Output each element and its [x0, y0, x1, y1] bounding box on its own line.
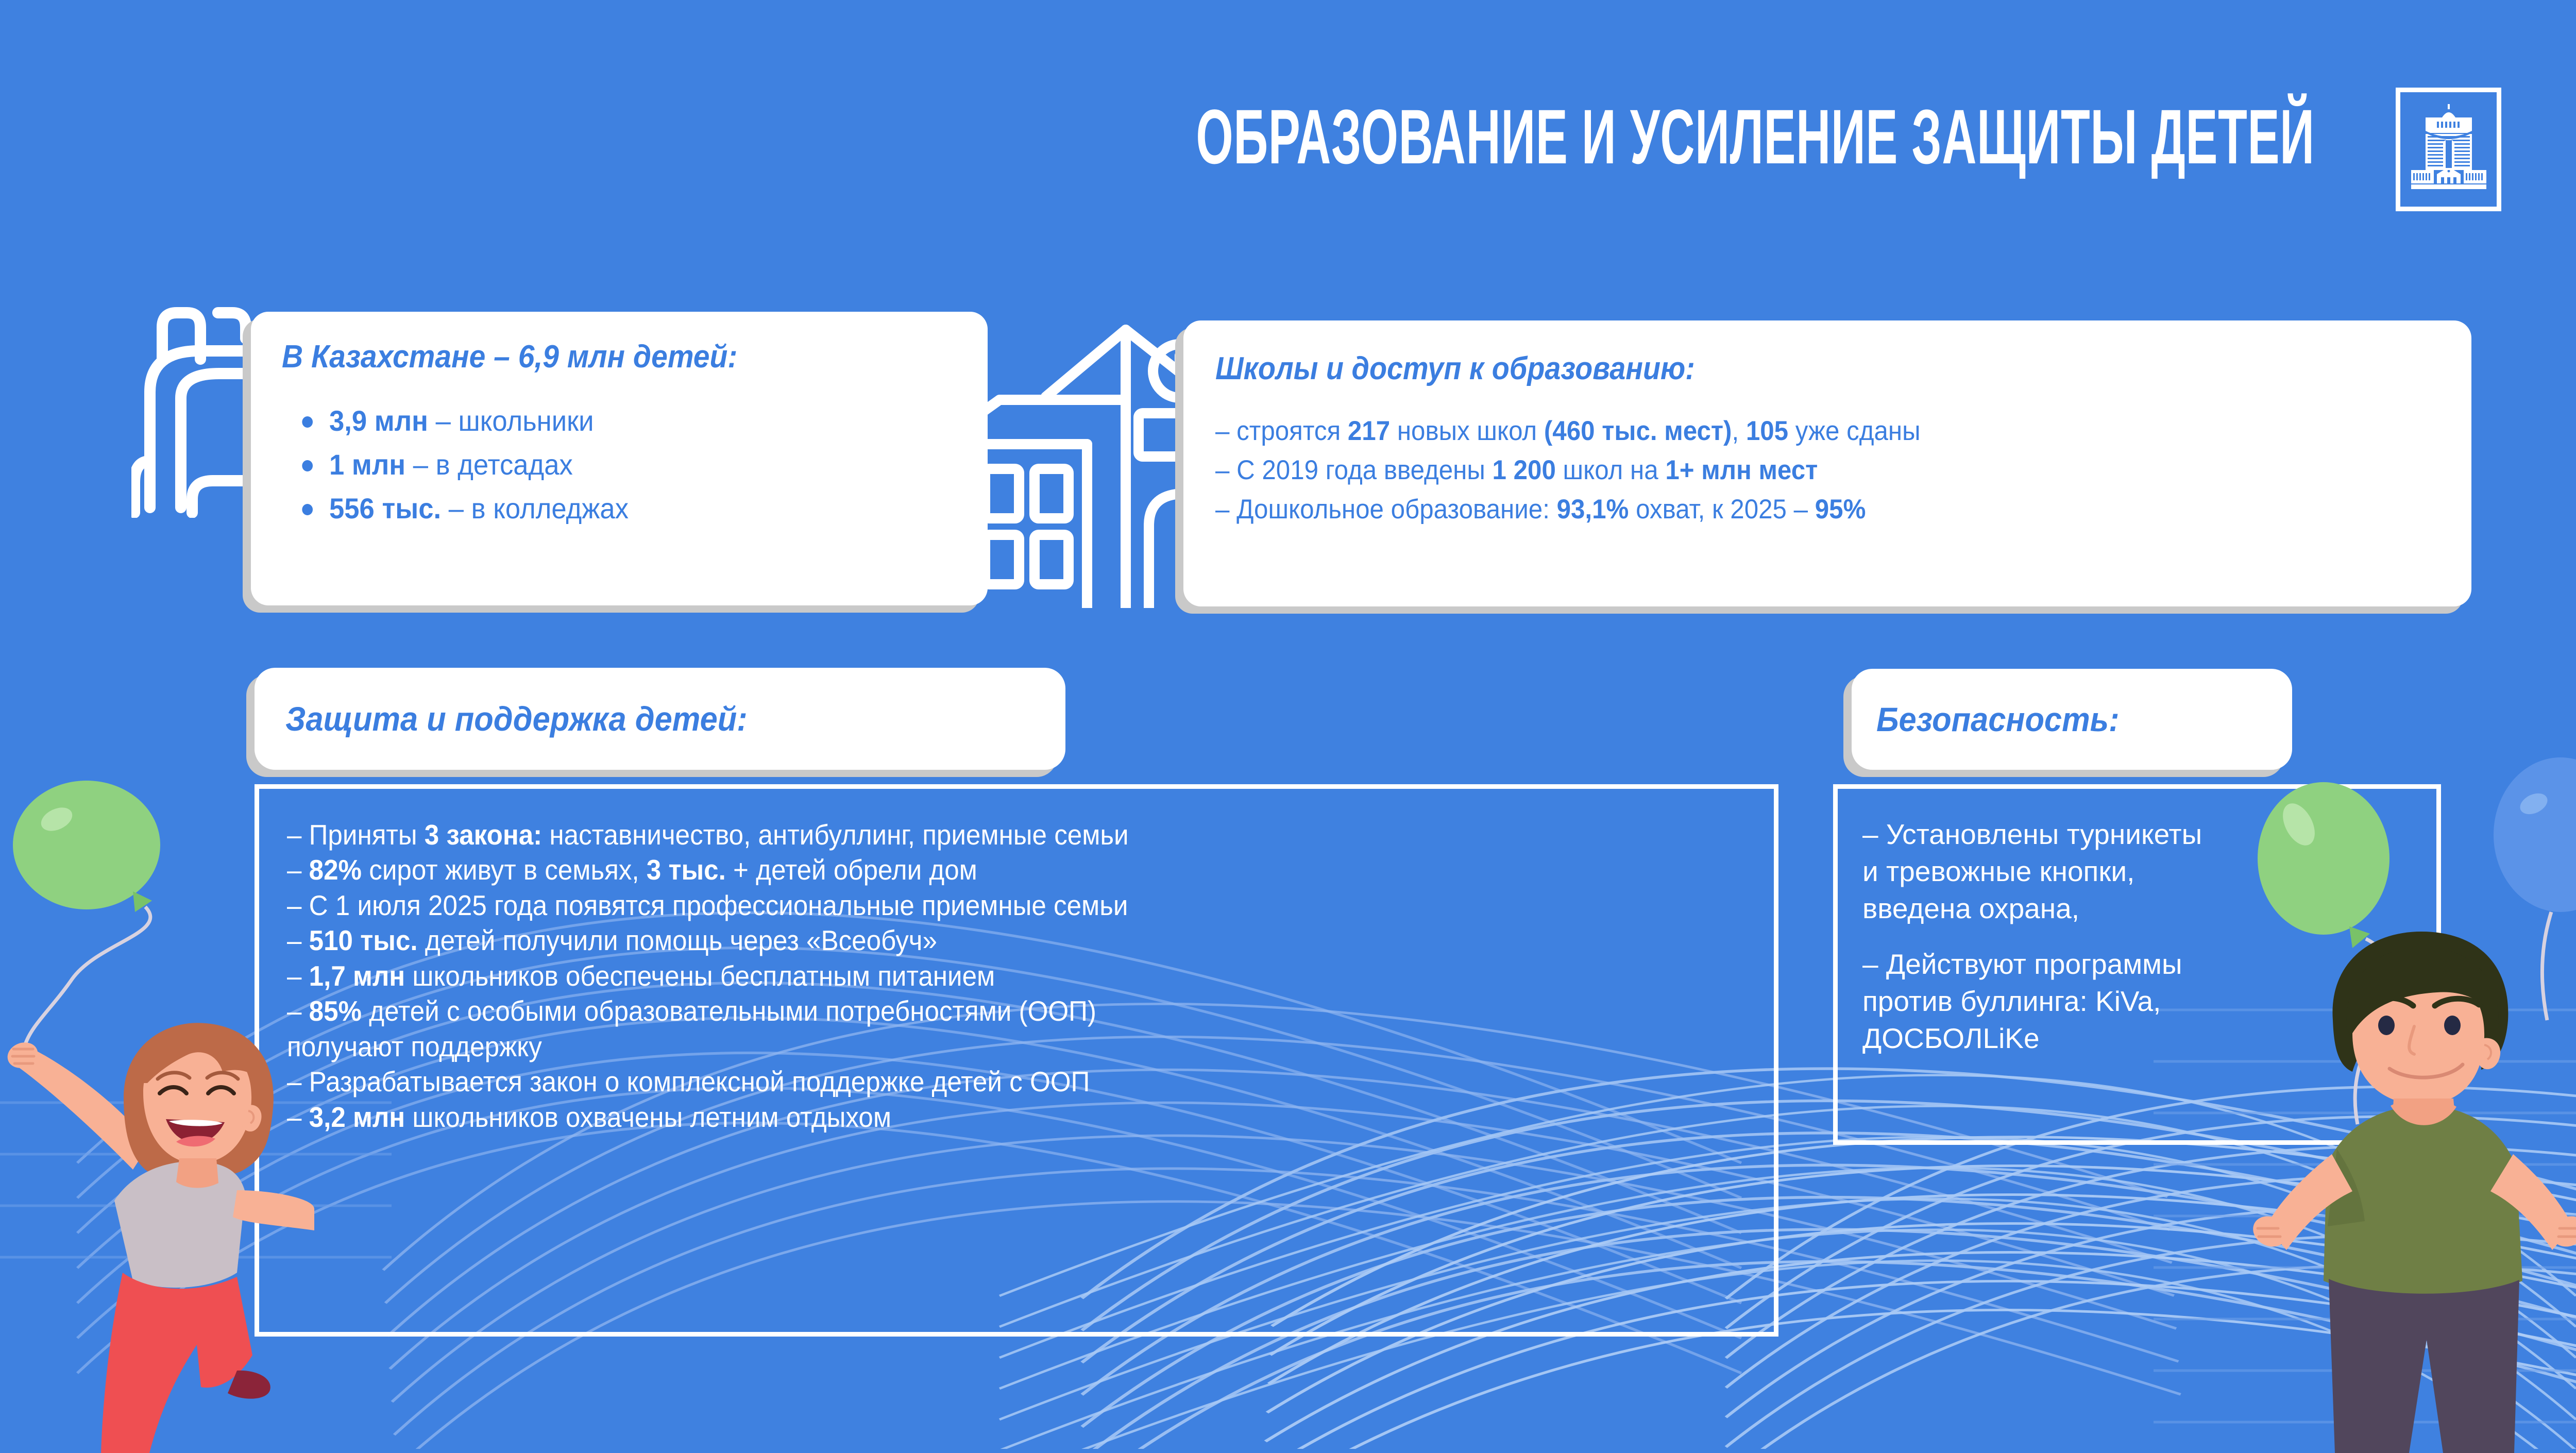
government-building-icon [2410, 102, 2487, 197]
line-text: – С 2019 года введены [1215, 455, 1493, 485]
highlight-value: 95% [1815, 494, 1866, 525]
content-line: – С 1 июля 2025 года появятся профессион… [287, 888, 1644, 923]
highlight-value: 217 [1348, 416, 1390, 446]
list-item: 3,9 млн – школьники [329, 399, 919, 443]
line-text: – строятся [1215, 416, 1348, 446]
line-text: + детей обрели дом [726, 854, 977, 886]
schools-access-card: Школы и доступ к образованию: – строятся… [1183, 320, 2471, 606]
line-text: – Разрабатывается закон о комплексной по… [287, 1066, 1090, 1097]
content-line: – 3,2 млн школьников охвачены летним отд… [287, 1100, 1644, 1135]
safety-content-box: – Установлены турникеты и тревожные кноп… [1833, 784, 2441, 1145]
list-item: 556 тыс. – в колледжах [329, 486, 919, 530]
line-text: , [1732, 416, 1745, 446]
line-text: – [287, 1101, 309, 1133]
line-text: – Приняты [287, 819, 425, 851]
highlight-value: 3 тыс. [647, 854, 726, 886]
line-text: школьников обеспечены бесплатным питание… [405, 960, 995, 992]
list-item: 1 млн – в детсадах [329, 443, 919, 486]
safety-line-list: – Установлены турникеты и тревожные кноп… [1862, 816, 2413, 1057]
protection-content-box: – Приняты 3 закона: наставничество, анти… [255, 784, 1778, 1337]
line-text: школ на [1556, 455, 1665, 485]
page-header: ОБРАЗОВАНИЕ И УСИЛЕНИЕ ЗАЩИТЫ ДЕТЕЙ [0, 0, 2576, 242]
content-line: – 510 тыс. детей получили помощь через «… [287, 923, 1644, 958]
line-text: – [287, 854, 309, 886]
content-line: – 1,7 млн школьников обеспечены бесплатн… [287, 958, 1644, 993]
bullet-value: 556 тыс. [329, 492, 441, 525]
blue-balloon [2494, 757, 2576, 1020]
line-text: – [287, 960, 309, 992]
highlight-value: 1 200 [1493, 455, 1556, 485]
bullet-value: 1 млн [329, 448, 405, 481]
line-text: – [287, 924, 309, 956]
content-line: – Приняты 3 закона: наставничество, анти… [287, 817, 1644, 852]
highlight-value: 1,7 млн [309, 960, 405, 992]
highlight-value: (460 тыс. мест) [1544, 416, 1732, 446]
line-text: новых школ [1390, 416, 1544, 446]
highlight-value: 510 тыс. [309, 924, 418, 956]
safety-line: – Установлены турникеты [1862, 816, 2413, 853]
protection-heading: Защита и поддержка детей: [285, 699, 748, 738]
highlight-value: 3,2 млн [309, 1101, 405, 1133]
content-line: – С 2019 года введены 1 200 школ на 1+ м… [1215, 451, 2355, 490]
safety-section-header: Безопасность: [1852, 669, 2292, 770]
line-text: детей с особыми образовательными потребн… [362, 995, 1096, 1027]
content-line: – Разрабатывается закон о комплексной по… [287, 1064, 1644, 1099]
content-line: – строятся 217 новых школ (460 тыс. мест… [1215, 412, 2355, 451]
line-text: детей получили помощь через «Всеобуч» [418, 924, 937, 956]
line-text: – Дошкольное образование: [1215, 494, 1557, 525]
highlight-value: 82% [309, 854, 362, 886]
line-text: получают поддержку [287, 1030, 542, 1062]
infographic-slide: ОБРАЗОВАНИЕ И УСИЛЕНИЕ ЗАЩИТЫ ДЕТЕЙ [0, 0, 2576, 1449]
government-logo [2396, 88, 2501, 211]
schools-line-list: – строятся 217 новых школ (460 тыс. мест… [1215, 412, 2441, 529]
highlight-value: 93,1% [1557, 494, 1629, 525]
content-line: – 82% сирот живут в семьях, 3 тыс. + дет… [287, 852, 1644, 887]
line-text: – [287, 995, 309, 1027]
kazakhstan-bullet-list: 3,9 млн – школьники 1 млн – в детсадах 5… [282, 399, 957, 530]
page-title: ОБРАЗОВАНИЕ И УСИЛЕНИЕ ЗАЩИТЫ ДЕТЕЙ [912, 98, 2401, 175]
line-text: охват, к 2025 – [1629, 494, 1815, 525]
protection-section-header: Защита и поддержка детей: [255, 668, 1065, 770]
schools-card-title: Школы и доступ к образованию: [1215, 350, 2318, 387]
content-line: – Дошкольное образование: 93,1% охват, к… [1215, 490, 2355, 529]
kazakhstan-children-card: В Казахстане – 6,9 млн детей: 3,9 млн – … [251, 312, 988, 605]
safety-line: против буллинга: KiVa, [1862, 983, 2413, 1020]
safety-heading: Безопасность: [1876, 700, 2120, 739]
highlight-value: 1+ млн мест [1665, 455, 1818, 485]
kazakhstan-card-title: В Казахстане – 6,9 млн детей: [282, 339, 903, 375]
safety-line: – Действуют программы [1862, 945, 2413, 983]
highlight-value: 3 закона: [425, 819, 542, 851]
line-text: школьников охвачены летним отдыхом [405, 1101, 891, 1133]
safety-line: и тревожные кнопки, [1862, 853, 2413, 890]
highlight-value: 105 [1746, 416, 1788, 446]
line-text: уже сданы [1788, 416, 1920, 446]
bullet-value: 3,9 млн [329, 404, 428, 437]
bullet-text: – школьники [428, 404, 594, 437]
green-balloon [13, 781, 160, 1046]
highlight-value: 85% [309, 995, 362, 1027]
line-text: – С 1 июля 2025 года появятся профессион… [287, 889, 1128, 921]
bullet-text: – в детсадах [405, 448, 573, 481]
bullet-text: – в колледжах [441, 492, 629, 525]
protection-line-list: – Приняты 3 закона: наставничество, анти… [287, 817, 1746, 1135]
line-text: сирот живут в семьях, [362, 854, 647, 886]
content-line: – 85% детей с особыми образовательными п… [287, 993, 1644, 1028]
content-line: получают поддержку [287, 1029, 1644, 1064]
safety-line: введена охрана, [1862, 890, 2413, 927]
line-text: наставничество, антибуллинг, приемные се… [542, 819, 1128, 851]
safety-line: ДОСБОЛLiKe [1862, 1020, 2413, 1057]
